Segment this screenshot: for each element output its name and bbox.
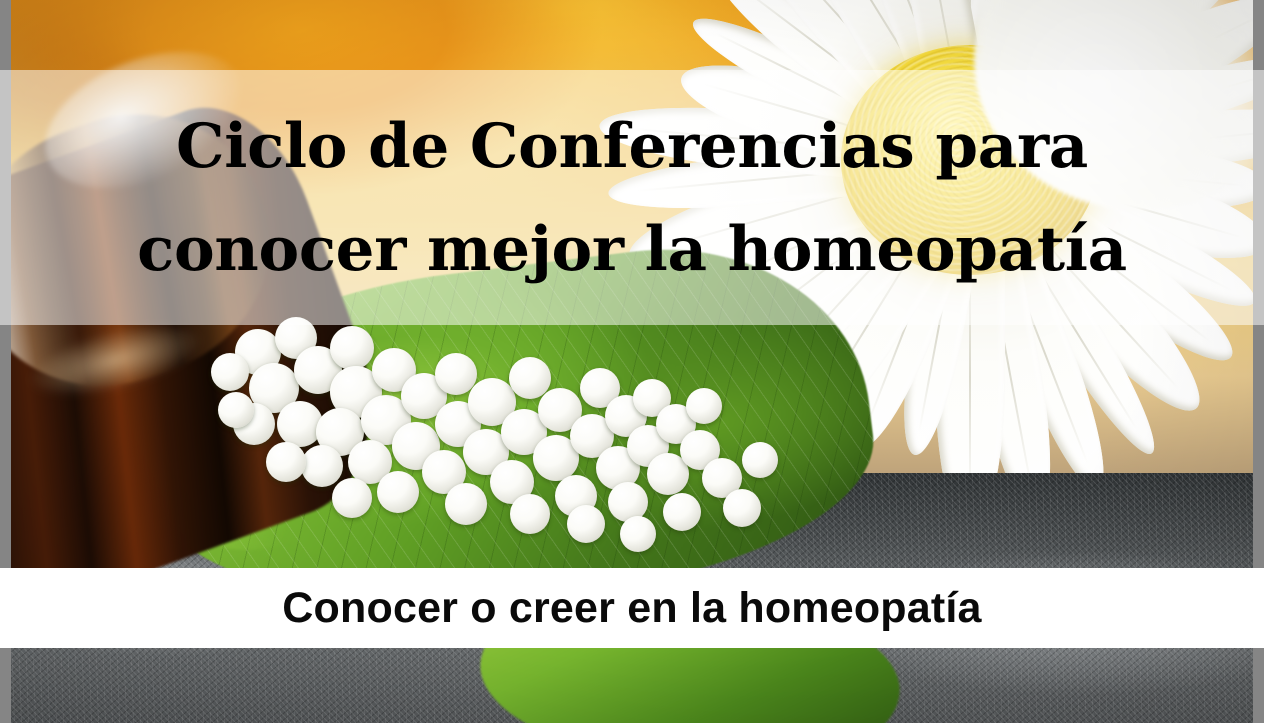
- pellet: [620, 516, 656, 552]
- pellet: [218, 392, 254, 428]
- title-band: Ciclo de Conferencias para conocer mejor…: [0, 70, 1264, 325]
- pellet: [723, 489, 761, 527]
- pellet: [332, 478, 372, 518]
- pellet: [301, 445, 343, 487]
- pellet: [445, 483, 487, 525]
- presentation-slide: Ciclo de Conferencias para conocer mejor…: [0, 0, 1264, 723]
- subtitle-text: Conocer o creer en la homeopatía: [282, 584, 981, 633]
- pellet: [663, 493, 701, 531]
- pellet: [211, 353, 249, 391]
- subtitle-band: Conocer o creer en la homeopatía: [0, 568, 1264, 648]
- pellet: [686, 388, 722, 424]
- title-line-1: Ciclo de Conferencias para: [176, 116, 1088, 177]
- pellet: [510, 494, 550, 534]
- pellet: [567, 505, 605, 543]
- pellet: [330, 326, 374, 370]
- pellet: [377, 471, 419, 513]
- pellet: [266, 442, 306, 482]
- title-line-2: conocer mejor la homeopatía: [137, 219, 1127, 280]
- pellet: [742, 442, 778, 478]
